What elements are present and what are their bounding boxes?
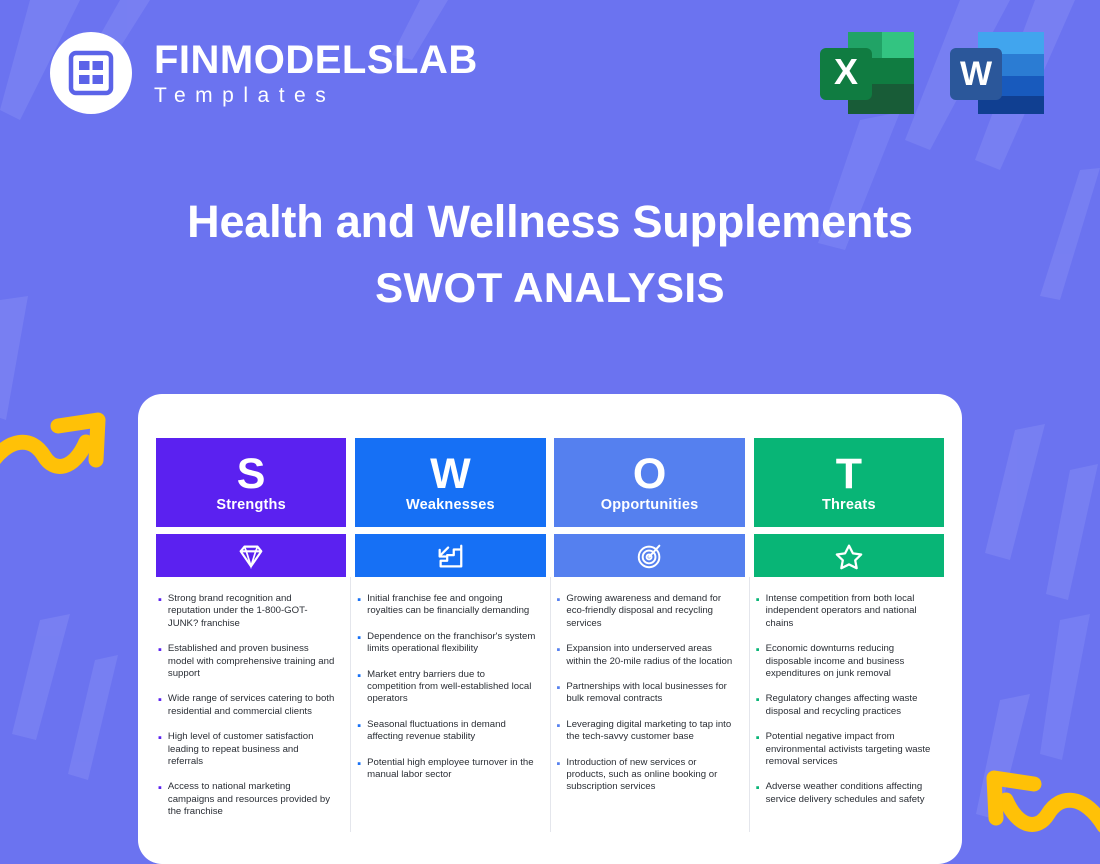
bullet-dot: ▪ (357, 669, 361, 706)
list-item: ▪ Established and proven business model … (158, 643, 336, 680)
list-item: ▪ Expansion into underserved areas withi… (556, 643, 734, 668)
swot-grid: S Strengths ▪ Strong brand recognition a… (156, 438, 944, 832)
swot-card: S Strengths ▪ Strong brand recognition a… (138, 394, 962, 864)
brand-header: FINMODELSLAB Templates (50, 32, 478, 114)
bullet-dot: ▪ (556, 643, 560, 668)
list-item: ▪ Wide range of services catering to bot… (158, 693, 336, 718)
bullet-text: Leveraging digital marketing to tap into… (566, 719, 734, 744)
bullet-text: Market entry barriers due to competition… (367, 669, 535, 706)
list-item: ▪ Regulatory changes affecting waste dis… (756, 693, 934, 718)
squiggle-arrow-up-right-icon (0, 398, 116, 488)
swot-column-threats: T Threats ▪ Intense competition from bot… (754, 438, 944, 832)
column-letter: W (430, 453, 471, 496)
brand-name: FINMODELSLAB (154, 39, 478, 81)
column-icon-bar-strengths (156, 534, 346, 577)
column-icon-bar-weaknesses (355, 534, 545, 577)
bullet-dot: ▪ (756, 593, 760, 630)
list-item: ▪ Leveraging digital marketing to tap in… (556, 719, 734, 744)
bullet-dot: ▪ (756, 693, 760, 718)
bullet-dot: ▪ (756, 643, 760, 680)
list-item: ▪ Initial franchise fee and ongoing roya… (357, 593, 535, 618)
bullet-dot: ▪ (756, 731, 760, 768)
bullet-dot: ▪ (556, 757, 560, 794)
column-letter: S (237, 453, 266, 496)
bullet-dot: ▪ (556, 719, 560, 744)
bullet-dot: ▪ (357, 719, 361, 744)
list-item: ▪ Growing awareness and demand for eco-f… (556, 593, 734, 630)
column-letter: O (633, 453, 666, 496)
file-format-icons: X W (816, 28, 1048, 120)
bullet-text: High level of customer satisfaction lead… (168, 731, 336, 768)
bullet-dot: ▪ (357, 631, 361, 656)
list-item: ▪ Potential high employee turnover in th… (357, 757, 535, 782)
descending-stairs-icon (435, 541, 465, 571)
column-label: Strengths (216, 497, 285, 513)
bullet-dot: ▪ (158, 731, 162, 768)
column-icon-bar-threats (754, 534, 944, 577)
column-divider (550, 577, 551, 832)
brand-tagline: Templates (154, 84, 478, 108)
bullet-text: Introduction of new services or products… (566, 757, 734, 794)
column-label: Opportunities (601, 497, 699, 513)
bullet-text: Partnerships with local businesses for b… (566, 681, 734, 706)
svg-text:X: X (834, 51, 858, 92)
column-divider (350, 577, 351, 832)
bullet-text: Regulatory changes affecting waste dispo… (766, 693, 934, 718)
bullet-dot: ▪ (158, 693, 162, 718)
column-icon-bar-opportunities (554, 534, 744, 577)
bullet-text: Economic downturns reducing disposable i… (766, 643, 934, 680)
bullet-dot: ▪ (756, 781, 760, 806)
bullet-dot: ▪ (556, 681, 560, 706)
column-header-weaknesses: W Weaknesses (355, 438, 545, 527)
column-header-opportunities: O Opportunities (554, 438, 744, 527)
bullet-dot: ▪ (357, 593, 361, 618)
diamond-icon (236, 541, 266, 571)
column-letter: T (836, 453, 862, 496)
list-item: ▪ Seasonal fluctuations in demand affect… (357, 719, 535, 744)
bullet-text: Initial franchise fee and ongoing royalt… (367, 593, 535, 618)
column-label: Threats (822, 497, 876, 513)
bullet-dot: ▪ (158, 781, 162, 818)
squiggle-arrow-down-left-icon (976, 752, 1100, 842)
bullet-text: Established and proven business model wi… (168, 643, 336, 680)
bullet-text: Intense competition from both local inde… (766, 593, 934, 630)
bullet-text: Growing awareness and demand for eco-fri… (566, 593, 734, 630)
column-divider (749, 577, 750, 832)
list-item: ▪ Partnerships with local businesses for… (556, 681, 734, 706)
bullet-text: Strong brand recognition and reputation … (168, 593, 336, 630)
bullet-text: Wide range of services catering to both … (168, 693, 336, 718)
swot-column-weaknesses: W Weaknesses ▪ Initial franchise fee and… (355, 438, 545, 832)
brand-wordmark: FINMODELSLAB Templates (154, 39, 478, 108)
column-body-strengths: ▪ Strong brand recognition and reputatio… (156, 577, 346, 832)
logo-mark (50, 32, 132, 114)
page-subtitle: SWOT ANALYSIS (0, 264, 1100, 312)
bullet-text: Access to national marketing campaigns a… (168, 781, 336, 818)
title-block: Health and Wellness Supplements SWOT ANA… (0, 196, 1100, 312)
bullet-dot: ▪ (556, 593, 560, 630)
list-item: ▪ Market entry barriers due to competiti… (357, 669, 535, 706)
column-label: Weaknesses (406, 497, 495, 513)
column-body-opportunities: ▪ Growing awareness and demand for eco-f… (554, 577, 744, 807)
star-icon (834, 541, 864, 571)
list-item: ▪ Dependence on the franchisor's system … (357, 631, 535, 656)
swot-column-strengths: S Strengths ▪ Strong brand recognition a… (156, 438, 346, 832)
column-header-strengths: S Strengths (156, 438, 346, 527)
list-item: ▪ Adverse weather conditions affecting s… (756, 781, 934, 806)
bullet-text: Potential high employee turnover in the … (367, 757, 535, 782)
bullet-dot: ▪ (158, 593, 162, 630)
target-icon (635, 541, 665, 571)
excel-icon: X (816, 28, 918, 120)
list-item: ▪ High level of customer satisfaction le… (158, 731, 336, 768)
bullet-dot: ▪ (357, 757, 361, 782)
list-item: ▪ Economic downturns reducing disposable… (756, 643, 934, 680)
bullet-text: Adverse weather conditions affecting ser… (766, 781, 934, 806)
grid-squares-icon (68, 50, 114, 96)
column-header-threats: T Threats (754, 438, 944, 527)
page-title: Health and Wellness Supplements (0, 196, 1100, 248)
list-item: ▪ Access to national marketing campaigns… (158, 781, 336, 818)
bullet-text: Seasonal fluctuations in demand affectin… (367, 719, 535, 744)
list-item: ▪ Potential negative impact from environ… (756, 731, 934, 768)
column-body-weaknesses: ▪ Initial franchise fee and ongoing roya… (355, 577, 545, 794)
bullet-text: Potential negative impact from environme… (766, 731, 934, 768)
bullet-text: Expansion into underserved areas within … (566, 643, 734, 668)
list-item: ▪ Intense competition from both local in… (756, 593, 934, 630)
svg-text:W: W (960, 55, 993, 93)
column-body-threats: ▪ Intense competition from both local in… (754, 577, 944, 819)
list-item: ▪ Introduction of new services or produc… (556, 757, 734, 794)
list-item: ▪ Strong brand recognition and reputatio… (158, 593, 336, 630)
swot-column-opportunities: O Opportunities ▪ Growing awareness and … (554, 438, 744, 832)
word-icon: W (946, 28, 1048, 120)
bullet-text: Dependence on the franchisor's system li… (367, 631, 535, 656)
bullet-dot: ▪ (158, 643, 162, 680)
